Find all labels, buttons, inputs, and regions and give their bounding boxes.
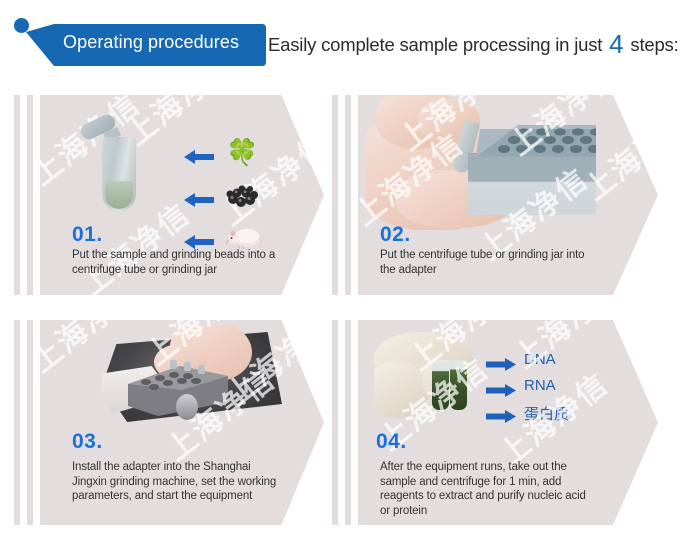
centrifuge-tube-icon xyxy=(102,137,142,217)
step-card-2: 上海净信 上海净信 上海净信 上海净信 上海净信 02. Put the cen… xyxy=(332,95,658,295)
step-card-1-body: 上海净信 上海净信 上海净信 上海净信 🍀 xyxy=(40,95,324,295)
arrow-right-icon xyxy=(486,358,516,371)
mouse-icon xyxy=(226,227,262,249)
step-number-2: 02. xyxy=(380,223,411,247)
step-card-3: 上海净信 上海净信 上海净信 上海净信 03. Install the adap… xyxy=(14,320,324,525)
card-accent-bar xyxy=(27,95,33,295)
arrow-left-icon xyxy=(184,193,214,207)
card-accent-bar xyxy=(345,320,351,525)
card-accent-bar xyxy=(345,95,351,295)
arrow-right-icon xyxy=(486,384,516,397)
step-card-1: 上海净信 上海净信 上海净信 上海净信 🍀 xyxy=(14,95,324,295)
adapter-shading xyxy=(468,153,596,215)
card-accent-bar xyxy=(14,95,20,295)
machine-spindle-icon xyxy=(176,394,198,420)
step-number-1: 01. xyxy=(72,223,103,247)
step-number-3: 03. xyxy=(72,430,103,454)
step-card-3-body: 上海净信 上海净信 上海净信 上海净信 03. Install the adap… xyxy=(40,320,324,525)
card-accent-bar xyxy=(332,95,338,295)
grinding-beads-icon xyxy=(226,185,260,207)
grinding-machine-photo xyxy=(102,326,282,426)
step-text-4: After the equipment runs, take out the s… xyxy=(380,460,598,518)
output-label-dna: DNA xyxy=(524,351,556,368)
step-number-4: 04. xyxy=(376,430,407,454)
watermark: 上海净信 xyxy=(503,320,631,377)
card-accent-bar xyxy=(27,320,33,525)
glove-thumb-icon xyxy=(374,362,430,418)
arrow-left-icon xyxy=(184,150,214,164)
leaf-icon: 🍀 xyxy=(226,139,258,165)
sample-tube-icon xyxy=(450,360,467,410)
sample-tube-icon xyxy=(432,362,449,410)
badge-label: Operating procedures xyxy=(63,32,263,53)
tagline-before: Easily complete sample processing in jus… xyxy=(268,34,602,55)
tagline-after: steps: xyxy=(630,34,678,55)
hand-holding-adapter-photo xyxy=(366,95,596,230)
page-tagline: Easily complete sample processing in jus… xyxy=(268,29,679,60)
tagline-step-count: 4 xyxy=(607,29,625,59)
step-card-2-body: 上海净信 上海净信 上海净信 上海净信 上海净信 02. Put the cen… xyxy=(358,95,658,295)
step-text-1: Put the sample and grinding beads into a… xyxy=(72,248,277,277)
step-card-4: DNA RNA 蛋白质 上海净信 上海净信 上海净信 上海净信 04. Afte… xyxy=(332,320,658,525)
output-label-protein: 蛋白质 xyxy=(524,403,569,424)
gloved-hand-tubes-photo xyxy=(374,332,504,422)
card-accent-bar xyxy=(332,320,338,525)
step-text-3: Install the adapter into the Shanghai Ji… xyxy=(72,460,277,504)
arrow-left-icon xyxy=(184,235,214,249)
step-text-2: Put the centrifuge tube or grinding jar … xyxy=(380,248,595,277)
tube-liquid-icon xyxy=(105,181,133,209)
header: Operating procedures Easily complete sam… xyxy=(0,0,686,82)
step-card-4-body: DNA RNA 蛋白质 上海净信 上海净信 上海净信 上海净信 04. Afte… xyxy=(358,320,658,525)
card-accent-bar xyxy=(14,320,20,525)
output-label-rna: RNA xyxy=(524,377,556,394)
operating-procedures-badge: Operating procedures xyxy=(8,18,258,66)
arrow-right-icon xyxy=(486,410,516,423)
